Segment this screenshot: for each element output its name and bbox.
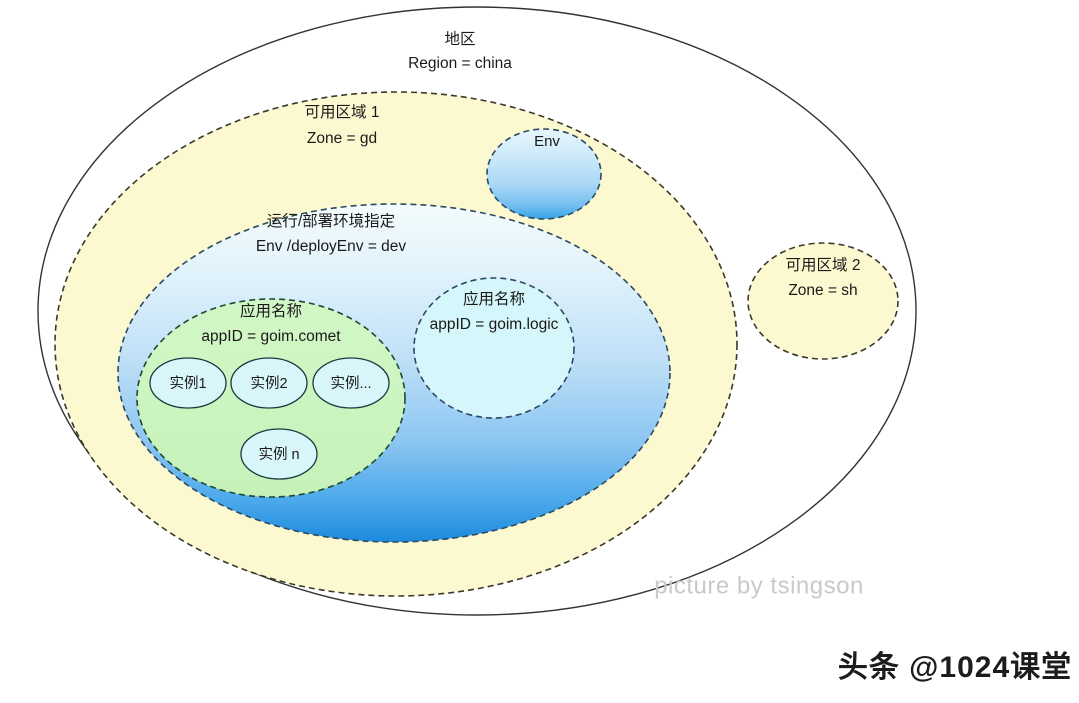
deploy-env-label-cn: 运行/部署环境指定	[267, 211, 395, 230]
region-label-en: Region = china	[408, 55, 512, 72]
diagram-canvas: 地区 Region = china 可用区域 1 Zone = gd 可用区域 …	[0, 0, 1079, 703]
zone1-label-en: Zone = gd	[307, 130, 377, 147]
app-comet-label-en: appID = goim.comet	[201, 328, 341, 345]
cloud-topology-diagram: 地区 Region = china 可用区域 1 Zone = gd 可用区域 …	[0, 0, 1079, 703]
env-standalone-label: Env	[534, 133, 560, 150]
instance-node[interactable]: 实例2	[231, 358, 307, 408]
instance-1-label: 实例1	[169, 375, 206, 392]
instance-n-label: 实例 n	[258, 446, 299, 463]
app-comet-label-cn: 应用名称	[240, 301, 302, 320]
instance-node[interactable]: 实例...	[313, 358, 389, 408]
zone2-label-en: Zone = sh	[788, 282, 857, 299]
app-logic-label-cn: 应用名称	[463, 289, 525, 308]
brand-watermark: 头条 @1024课堂	[838, 651, 1072, 684]
zone1-label-cn: 可用区域 1	[305, 103, 380, 121]
app-logic-label-en: appID = goim.logic	[430, 316, 559, 333]
instance-node[interactable]: 实例1	[150, 358, 226, 408]
instance-2-label: 实例2	[250, 375, 287, 392]
zone2-label-cn: 可用区域 2	[786, 256, 861, 274]
instance-3-label: 实例...	[330, 375, 371, 392]
instance-node[interactable]: 实例 n	[241, 429, 317, 479]
author-watermark: picture by tsingson	[654, 572, 864, 599]
deploy-env-label-en: Env /deployEnv = dev	[256, 238, 407, 255]
region-label-cn: 地区	[444, 30, 475, 48]
